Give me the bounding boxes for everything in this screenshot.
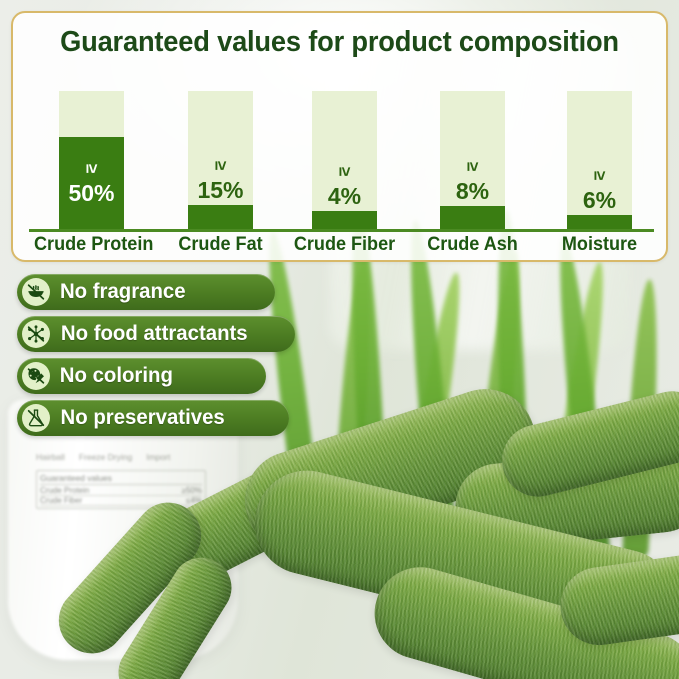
greater-equal-symbol: ≥ xyxy=(464,158,481,176)
bar-track: ≥ 6% xyxy=(567,91,632,229)
bar-value: 4% xyxy=(312,185,377,208)
bar-track: ≥ 50% xyxy=(59,91,124,229)
bar-group-crude-fiber[interactable]: ≥ 4% Crude Fiber xyxy=(312,79,377,254)
bar-value-label: ≥ 8% xyxy=(440,158,505,203)
badge-label: No food attractants xyxy=(61,322,248,346)
bar-group-crude-protein[interactable]: ≥ 50% Crude Protein xyxy=(59,79,124,254)
badge-label: No preservatives xyxy=(61,406,225,430)
no-preservatives-icon xyxy=(22,404,50,432)
bar-fill xyxy=(440,206,505,229)
label-row-1-name: Crude Fiber xyxy=(40,496,82,505)
bar-chart: ≥ 50% Crude Protein ≥ 15% Crude Fat xyxy=(29,79,654,254)
greater-equal-symbol: ≥ xyxy=(336,163,353,181)
bar-value: 6% xyxy=(567,189,632,212)
bar-category-label: Crude Ash xyxy=(415,234,530,256)
bar-value: 15% xyxy=(188,179,253,202)
label-row-0-name: Crude Protein xyxy=(40,486,89,495)
no-fragrance-icon xyxy=(22,278,50,306)
bar-group-moisture[interactable]: ≥ 6% Moisture xyxy=(567,79,632,254)
bar-fill xyxy=(59,137,124,229)
label-row-0-value: ≥50% xyxy=(182,486,202,495)
bar-fill xyxy=(567,215,632,229)
label-row-1-value: ≤4% xyxy=(186,496,202,505)
badge-label: No fragrance xyxy=(60,280,186,304)
product-label-text: Hairball Freeze Drying Import Guaranteed… xyxy=(36,452,206,509)
bar-track: ≥ 4% xyxy=(312,91,377,229)
bar-fill xyxy=(188,205,253,229)
label-feature-2: Import xyxy=(146,452,170,462)
bar-value-label: ≥ 15% xyxy=(188,157,253,202)
bar-track: ≥ 15% xyxy=(188,91,253,229)
greater-equal-symbol: ≥ xyxy=(212,157,229,175)
badge-no-food-attractants[interactable]: No food attractants xyxy=(17,316,295,352)
bar-category-label: Crude Fat xyxy=(163,234,278,256)
bar-fill xyxy=(312,211,377,229)
no-coloring-icon xyxy=(22,362,50,390)
badge-no-fragrance[interactable]: No fragrance xyxy=(17,274,275,310)
greater-equal-symbol: ≥ xyxy=(591,167,608,185)
chart-title: Guaranteed values for product compositio… xyxy=(33,26,647,59)
label-feature-1: Freeze Drying xyxy=(79,452,132,462)
bar-value-label: ≥ 6% xyxy=(567,167,632,212)
product-infographic: Hairball Freeze Drying Import Guaranteed… xyxy=(0,0,679,679)
badge-label: No coloring xyxy=(60,364,173,388)
chart-card: Guaranteed values for product compositio… xyxy=(11,11,668,262)
bar-value: 8% xyxy=(440,180,505,203)
bar-category-label: Crude Fiber xyxy=(287,234,402,256)
feature-badge-list: No fragrance xyxy=(17,274,317,442)
no-food-attractants-icon xyxy=(22,320,50,348)
label-feature-0: Hairball xyxy=(36,452,65,462)
bar-track: ≥ 8% xyxy=(440,91,505,229)
bar-group-crude-fat[interactable]: ≥ 15% Crude Fat xyxy=(188,79,253,254)
badge-no-coloring[interactable]: No coloring xyxy=(17,358,266,394)
bar-category-label: Moisture xyxy=(542,234,657,256)
label-heading: Guaranteed values xyxy=(40,473,202,485)
bar-value-label: ≥ 4% xyxy=(312,163,377,208)
bar-group-crude-ash[interactable]: ≥ 8% Crude Ash xyxy=(440,79,505,254)
bar-category-label: Crude Protein xyxy=(34,234,149,256)
badge-no-preservatives[interactable]: No preservatives xyxy=(17,400,289,436)
